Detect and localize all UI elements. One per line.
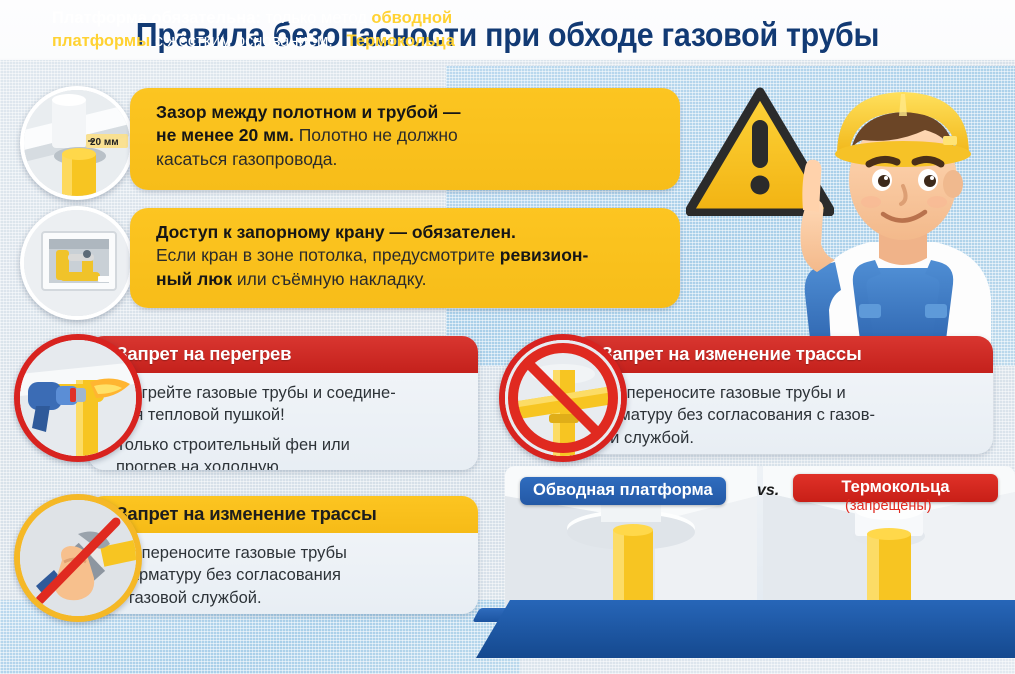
reroute-bottom-line2: и арматуру без согласования [116, 566, 341, 584]
callout-gap-rule: Зазор между полотном и трубой — не менее… [130, 88, 680, 190]
card-no-reroute-right: Запрет на изменение трассы Не переносите… [573, 336, 993, 454]
comparison-vs-label: vs. [757, 482, 779, 500]
callout-valve-line3-bold: ный люк [156, 269, 232, 289]
banner-highlight-3: Термокольца [347, 32, 455, 50]
wrench-hand-prohibited-photo [14, 494, 142, 622]
bottom-banner-text: Платформа обязательна: только метод обво… [52, 7, 530, 53]
reroute-bottom-line3: с газовой службой. [116, 589, 262, 607]
comparison-bad-note: (запрещены) [845, 498, 932, 514]
callout-gap-line3: касаться газопровода. [156, 149, 337, 169]
card-no-reroute-right-header: Запрет на изменение трассы [573, 336, 993, 373]
pipe-ceiling-gap-photo: 20 мм [20, 86, 134, 200]
card-no-reroute-right-body: Не переносите газовые трубы и арматуру б… [573, 373, 993, 454]
comparison-good-label: Обводная платформа [520, 477, 726, 505]
card-no-overheat-header: Запрет на перегрев [88, 336, 478, 373]
callout-valve-line2: Если кран в зоне потолка, предусмотрите [156, 245, 500, 265]
heat-gun-prohibited-photo [14, 334, 142, 462]
pipe-reroute-prohibited-photo [499, 334, 627, 462]
inspection-hatch-photo [20, 206, 134, 320]
banner-highlight-2: платформы [52, 32, 150, 50]
banner-mid1: только метод [261, 9, 372, 27]
card-no-reroute-bottom-body: Не переносите газовые трубы и арматуру б… [88, 533, 478, 614]
card-no-overheat-body: Не грейте газовые трубы и соедине- ния т… [88, 373, 478, 470]
bottom-banner [476, 600, 1015, 658]
reroute-right-line1: Не переносите газовые трубы и [601, 384, 846, 402]
reroute-right-line2: арматуру без согласования с газов- [601, 406, 875, 424]
banner-lead: Платформа обязательна: [52, 9, 261, 27]
callout-gap-line2-rest: Полотно не должно [294, 125, 458, 145]
svg-text:20 мм: 20 мм [90, 137, 119, 148]
callout-valve-line3-rest: или съёмную накладку. [232, 269, 426, 289]
callout-valve-access: Доступ к запорному крану — обязателен. Е… [130, 208, 680, 308]
overheat-line4: прогрев на холодную. [116, 458, 283, 470]
card-no-reroute-bottom-header: Запрет на изменение трассы [88, 496, 478, 533]
construction-worker-illustration [775, 58, 1015, 348]
reroute-bottom-line1: Не переносите газовые трубы [116, 544, 347, 562]
overheat-line3: Только строительный фен или [116, 436, 350, 454]
callout-gap-line1: Зазор между полотном и трубой — [156, 102, 461, 122]
overheat-line1: Не грейте газовые трубы и соедине- [116, 384, 396, 402]
card-no-overheat: Запрет на перегрев Не грейте газовые тру… [88, 336, 478, 470]
callout-gap-line2-bold: не менее 20 мм. [156, 125, 294, 145]
banner-mid2: с жёстким основанием. [150, 32, 333, 50]
card-no-reroute-bottom: Запрет на изменение трассы Не переносите… [88, 496, 478, 614]
infographic-poster: Правила безопасности при обходе газовой … [0, 0, 1015, 674]
callout-valve-line1: Доступ к запорному крану — обязателен. [156, 222, 516, 242]
banner-highlight-1: обводной [371, 9, 452, 27]
callout-valve-line2-bold: ревизион- [500, 245, 588, 265]
overheat-line2: ния тепловой пушкой! [116, 406, 285, 424]
